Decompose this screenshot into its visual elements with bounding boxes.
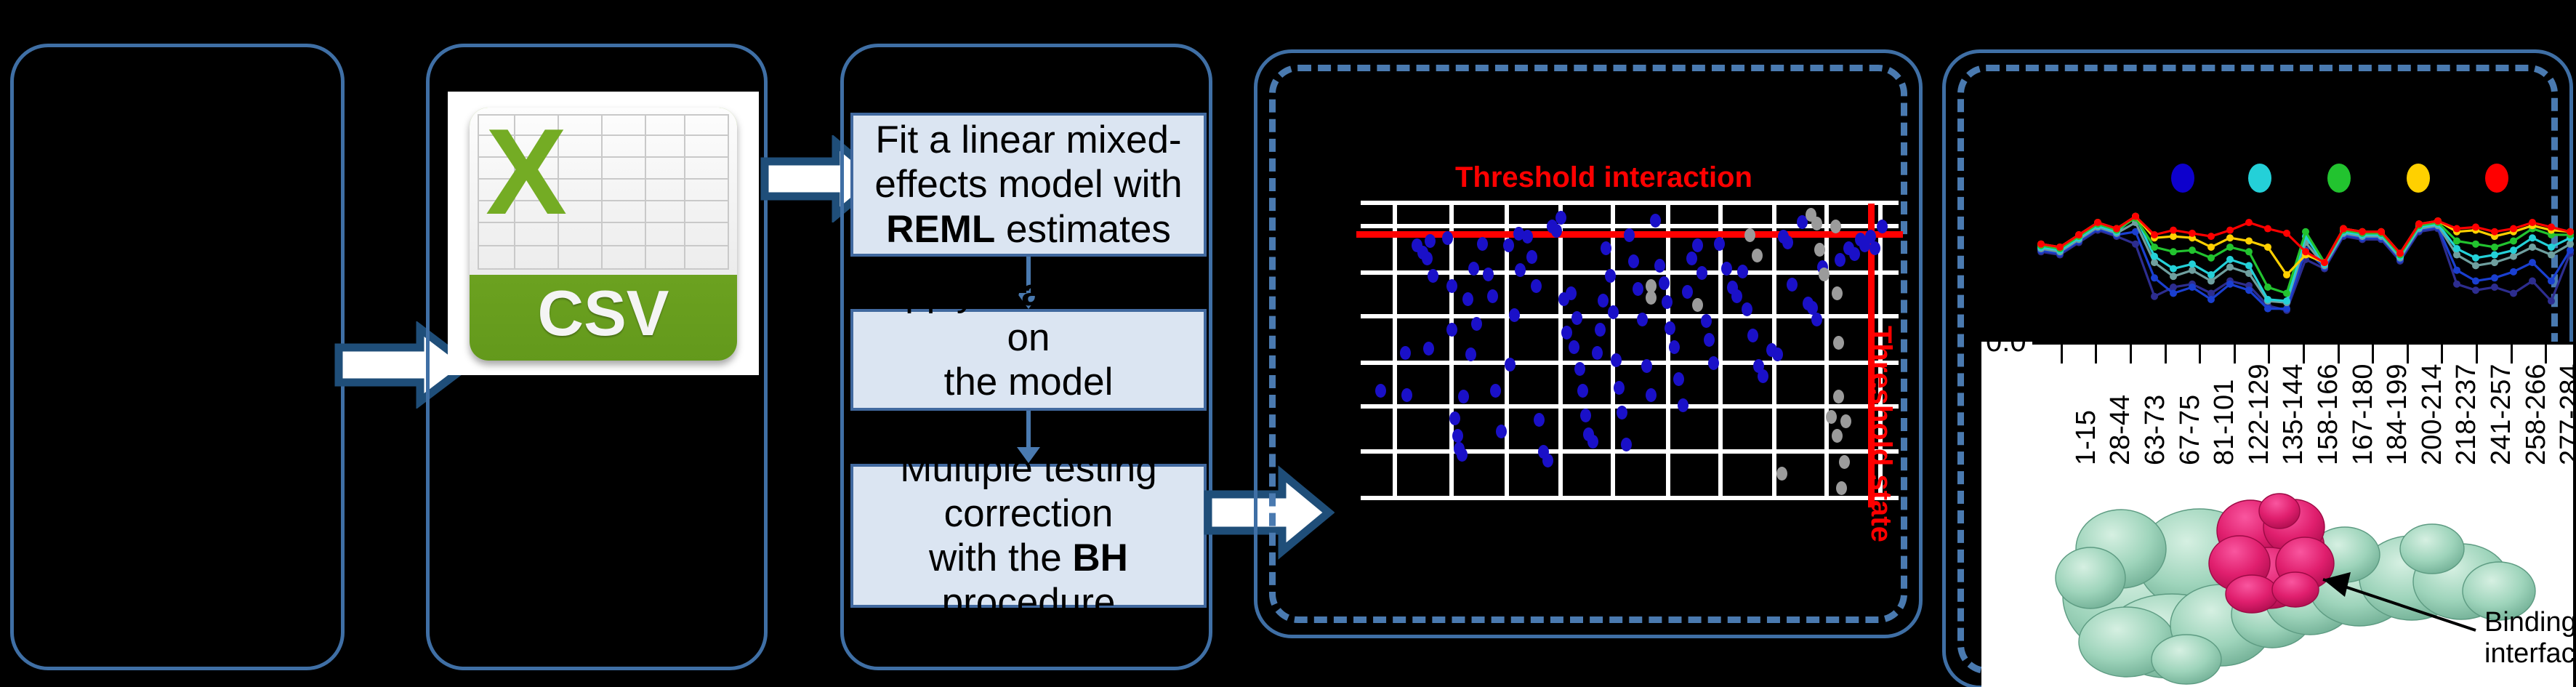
step-bh-line3post: procedure: [942, 581, 1116, 624]
peptide-series-marker: [2226, 256, 2234, 263]
scatter-point: [1659, 276, 1670, 290]
scatter-point-ns: [1819, 268, 1830, 281]
scatter-point: [1704, 333, 1715, 347]
step-wald-bold: Wald tests: [986, 271, 1178, 314]
scatter-point: [1617, 406, 1627, 419]
scatter-point: [1458, 390, 1469, 403]
peptide-series-marker: [2207, 233, 2215, 240]
scatter-point: [1673, 372, 1684, 386]
peptide-series-marker: [2510, 237, 2517, 244]
scatter-point: [1490, 384, 1501, 398]
peptide-series-marker: [2170, 289, 2177, 297]
scatter-point: [1686, 252, 1697, 265]
csv-file-icon: X CSV: [470, 108, 737, 361]
peptide-axis-tick-label: 81-101: [2209, 379, 2240, 465]
step-bh-line1: Multiple testing: [900, 447, 1157, 490]
scatter-point: [1503, 238, 1514, 252]
peptide-series-marker: [2510, 289, 2517, 297]
scatter-point: [1505, 358, 1516, 371]
peptide-series-marker: [2283, 271, 2290, 278]
scatter-point: [1621, 438, 1632, 451]
scatter-point: [1592, 346, 1603, 360]
scatter-point: [1772, 347, 1783, 361]
scatter-point: [1787, 278, 1798, 292]
scatter-point-ns: [1811, 217, 1822, 230]
legend-dot-series-2: [2248, 164, 2271, 193]
legend-dot-series-3: [2327, 164, 2351, 193]
csv-label: CSV: [470, 276, 737, 350]
scatter-point: [1471, 317, 1482, 331]
scatter-point: [1614, 381, 1625, 395]
peptide-series-marker: [2472, 223, 2479, 230]
peptide-series-marker: [2529, 234, 2536, 241]
peptide-series-marker: [2151, 231, 2158, 238]
peptide-axis-tick: [2511, 345, 2513, 363]
step-wald-pre: Apply: [880, 271, 986, 314]
peptide-axis-tick: [2303, 345, 2305, 363]
scatter-point: [1641, 359, 1652, 373]
scatter-point: [1580, 409, 1591, 422]
peptide-series-marker: [2283, 230, 2290, 237]
binding-interface-line2: interface: [2484, 638, 2573, 669]
peptide-axis-tick-label: 200-214: [2417, 364, 2448, 465]
peptide-series-marker: [2283, 289, 2290, 297]
scatter-point: [1628, 254, 1639, 268]
peptide-axis-tick-label: 122-129: [2244, 364, 2275, 465]
step-reml-box[interactable]: Fit a linear mixed- effects model with R…: [850, 113, 1207, 257]
peptide-series-marker: [2491, 274, 2498, 281]
scatter-point: [1747, 329, 1758, 342]
scatter-point: [1449, 411, 1460, 425]
peptide-series-marker: [2529, 259, 2536, 266]
scatter-point: [1551, 224, 1562, 238]
scatter-point: [1561, 326, 1572, 340]
step-reml-line2: effects model with: [874, 163, 1182, 206]
peptide-series-marker: [2207, 296, 2215, 303]
scatter-point: [1483, 268, 1494, 281]
peptide-axis-tick-label: 28-44: [2105, 395, 2136, 465]
scatter-point: [1555, 211, 1566, 225]
peptide-series-marker: [2529, 219, 2536, 226]
peptide-series-marker: [2453, 281, 2460, 288]
scatter-point: [1468, 262, 1479, 276]
scatter-point-ns: [1646, 291, 1657, 305]
scatter-point: [1515, 263, 1526, 277]
peptide-axis-tick-label: 277-284: [2555, 364, 2573, 465]
scatter-point: [1721, 262, 1732, 276]
peptide-axis-tick-label: 241-257: [2486, 364, 2517, 465]
peptide-series-marker: [2321, 259, 2328, 266]
peptide-series-marker: [2491, 252, 2498, 259]
scatter-point: [1637, 313, 1648, 326]
peptide-series-marker: [2245, 237, 2253, 244]
peptide-series-marker: [2207, 254, 2215, 262]
peptide-series-marker: [2226, 281, 2234, 288]
scatter-point: [1877, 220, 1888, 233]
scatter-point: [1428, 269, 1438, 283]
scatter-point: [1714, 237, 1725, 251]
peptide-axis-tick: [2338, 345, 2340, 363]
step-reml-line3rest: estimates: [995, 208, 1171, 251]
scatter-point: [1423, 342, 1434, 355]
scatter-gridline-h: [1361, 361, 1899, 365]
scatter-point: [1708, 356, 1719, 370]
peptide-series-marker: [2264, 296, 2271, 303]
peptide-axis-tick: [2268, 345, 2270, 363]
scatter-point: [1569, 340, 1579, 354]
scatter-point: [1662, 295, 1673, 309]
peptide-series-marker: [2189, 260, 2196, 268]
peptide-series-marker: [2207, 271, 2215, 278]
scatter-point: [1477, 237, 1488, 251]
peptide-series-marker: [2151, 244, 2158, 251]
scatter-point-ns: [1826, 410, 1837, 424]
scatter-gridline-v: [1449, 201, 1454, 500]
scatter-point: [1598, 294, 1609, 308]
peptide-series-marker: [2396, 249, 2404, 257]
scatter-point: [1401, 388, 1412, 402]
peptide-series-marker: [2453, 225, 2460, 233]
scatter-point: [1577, 384, 1588, 398]
scatter-point: [1811, 313, 1822, 326]
peptide-series-marker: [2075, 231, 2082, 238]
step-reml-line1: Fit a linear mixed-: [875, 118, 1181, 161]
peptide-series-marker: [2226, 234, 2234, 241]
peptide-series-marker: [2472, 262, 2479, 269]
scatter-point: [1682, 285, 1693, 299]
scatter-point: [1692, 238, 1703, 252]
scatter-point: [1400, 346, 1411, 360]
scatter-point: [1526, 250, 1537, 264]
scatter-point: [1646, 388, 1657, 402]
scatter-point: [1457, 448, 1468, 462]
scatter-point: [1849, 247, 1860, 261]
peptide-series-marker: [2151, 274, 2158, 281]
scatter-point: [1375, 384, 1386, 398]
protein-structure-card: Binding interface: [1981, 469, 2573, 687]
scatter-gridline-h: [1361, 201, 1899, 205]
peptide-series-marker: [2548, 252, 2555, 259]
scatter-point: [1487, 289, 1498, 303]
peptide-axis-tick: [2061, 345, 2063, 363]
peptide-axis-tick: [2095, 345, 2097, 363]
peptide-series-marker: [2245, 248, 2253, 255]
scatter-point-ns: [1840, 414, 1851, 428]
peptide-series-marker: [2359, 228, 2366, 236]
peptide-series-marker: [2132, 241, 2139, 248]
legend-dot-series-5: [2485, 164, 2508, 193]
scatter-point: [1534, 413, 1545, 427]
scatter-point-ns: [1830, 220, 1841, 233]
scatter-point: [1742, 302, 1752, 316]
peptide-series-marker: [2094, 219, 2101, 226]
scatter-gridline-v: [1558, 201, 1563, 500]
scatter-point: [1605, 269, 1616, 283]
peptide-series-marker: [2245, 286, 2253, 294]
peptide-series-marker: [2264, 225, 2271, 233]
scatter-point: [1701, 314, 1712, 328]
peptide-axis-tick: [2165, 345, 2167, 363]
peptide-axis-tick-label: 167-180: [2348, 364, 2379, 465]
legend-dot-series-1: [2171, 164, 2194, 193]
scatter-point: [1758, 369, 1768, 383]
scatter-point-ns: [1814, 243, 1825, 257]
peptide-series-marker: [2264, 284, 2271, 291]
peptide-series-marker: [2472, 278, 2479, 285]
scatter-point-ns: [1744, 228, 1755, 242]
peptide-series-marker: [2226, 263, 2234, 270]
scatter-point: [1737, 265, 1748, 278]
step-reml-bold: REML: [886, 208, 995, 251]
peptide-series-marker: [2548, 223, 2555, 230]
scatter-point: [1446, 279, 1457, 293]
peptide-series-marker: [2245, 262, 2253, 269]
scatter-point-ns: [1752, 249, 1763, 262]
peptide-series-marker: [2415, 220, 2423, 228]
panel-input: [10, 44, 345, 670]
binding-interface-annotation: Binding interface: [2484, 607, 2573, 669]
scatter-point: [1509, 308, 1520, 322]
peptide-series-marker: [2529, 278, 2536, 285]
legend-dot-series-4: [2407, 164, 2430, 193]
peptide-series-marker: [2189, 284, 2196, 291]
peptide-series-marker: [2132, 213, 2139, 220]
peptide-series-marker: [2548, 297, 2555, 305]
scatter-point: [1422, 252, 1433, 265]
threshold-state-label: Threshold state: [1864, 326, 1897, 542]
peptide-series-marker: [2491, 284, 2498, 291]
step-bh-box[interactable]: Multiple testing correction with the BH …: [850, 464, 1207, 608]
peptide-series-marker: [2151, 253, 2158, 260]
scatter-point-ns: [1776, 467, 1787, 481]
peptide-axis-tick: [2545, 345, 2547, 363]
peptide-series-marker: [2340, 225, 2347, 233]
threshold-interaction-label: Threshold interaction: [1455, 161, 1752, 194]
scatter-gridline-v: [1611, 201, 1615, 500]
peptide-axis-tick: [2476, 345, 2478, 363]
scatter-point: [1442, 231, 1453, 245]
step-bh-bold: BH: [1072, 537, 1128, 579]
peptide-axis-tick: [2130, 345, 2132, 363]
csv-x-letter: X: [486, 111, 567, 233]
scatter-point: [1522, 230, 1533, 244]
peptide-axis-tick-label: 218-237: [2451, 364, 2482, 465]
peptide-series-marker: [2113, 225, 2120, 233]
scatter-point-ns: [1839, 455, 1850, 469]
peptide-series-marker: [2529, 244, 2536, 251]
csv-icon-card: X CSV: [448, 92, 759, 375]
peptide-series-marker: [2264, 305, 2271, 313]
scatter-point: [1678, 398, 1689, 412]
peptide-series-marker: [2226, 244, 2234, 251]
scatter-point: [1782, 236, 1793, 249]
peptide-series-marker: [2434, 217, 2442, 225]
scatter-point-ns: [1833, 390, 1844, 403]
peptide-axis-tick: [2199, 345, 2201, 363]
peptide-series-marker: [2151, 293, 2158, 300]
scatter-point: [1601, 241, 1611, 255]
scatter-point-ns: [1836, 481, 1847, 495]
peptide-series-marker: [2472, 286, 2479, 294]
peptide-y-tick-label: 0.0: [1986, 326, 2026, 358]
peptide-axis-tick-label: 1-15: [2071, 410, 2102, 465]
scatter-point: [1665, 321, 1675, 335]
peptide-series-marker: [2378, 228, 2385, 236]
peptide-axis-tick-label: 258-266: [2521, 364, 2552, 465]
step-bh-line2: correction: [944, 492, 1114, 535]
peptide-series-marker: [2170, 265, 2177, 273]
peptide-line-chart: [2035, 200, 2576, 345]
peptide-series-marker: [2170, 248, 2177, 255]
peptide-series-marker: [2226, 227, 2234, 234]
peptide-series-marker: [2491, 228, 2498, 236]
peptide-axis-tick-label: 158-166: [2313, 364, 2344, 465]
scatter-point: [1571, 311, 1582, 325]
peptide-axis-tick-label: 184-199: [2382, 364, 2413, 465]
scatter-point-ns: [1692, 298, 1703, 312]
scatter-point: [1608, 305, 1619, 319]
scatter-gridline-v: [1824, 201, 1829, 500]
peptide-series-marker: [2283, 297, 2290, 305]
scatter-plot: [1361, 198, 1899, 510]
scatter-point: [1835, 253, 1846, 267]
scatter-point: [1587, 435, 1598, 449]
peptide-series-marker: [2170, 273, 2177, 280]
peptide-series-marker: [2510, 268, 2517, 276]
scatter-point: [1624, 228, 1635, 242]
scatter-point: [1462, 292, 1473, 306]
peptide-series-marker: [2510, 246, 2517, 254]
peptide-series-marker: [2302, 248, 2309, 255]
scatter-point: [1654, 259, 1665, 273]
scatter-point: [1446, 323, 1457, 337]
peptide-series-marker: [2170, 227, 2177, 234]
scatter-point: [1574, 362, 1585, 376]
peptide-series-marker: [2548, 278, 2555, 285]
scatter-point: [1566, 286, 1577, 300]
scatter-point: [1633, 282, 1643, 296]
peptide-series-marker: [2491, 244, 2498, 251]
connector-wald-to-bh: [1026, 411, 1031, 451]
peptide-axis-tick: [2441, 345, 2443, 363]
peptide-series-marker: [2472, 254, 2479, 262]
flow-diagram-canvas: X CSV Fit a linear mixed- effects model …: [0, 0, 2576, 687]
peptide-series-marker: [2453, 267, 2460, 274]
peptide-series-marker: [2037, 241, 2045, 248]
peptide-series-marker: [2189, 230, 2196, 237]
scatter-point: [1696, 266, 1707, 280]
peptide-axis-tick-label: 135-144: [2278, 364, 2309, 465]
peptide-series-marker: [2207, 244, 2215, 251]
scatter-point: [1531, 279, 1542, 293]
step-wald-box[interactable]: Apply Wald tests on the model parameters: [850, 309, 1207, 411]
scatter-point-ns: [1833, 336, 1844, 350]
peptide-axis-tick: [2234, 345, 2236, 363]
step-bh-line3pre: with the: [929, 537, 1072, 579]
binding-interface-line1: Binding: [2484, 607, 2573, 638]
peptide-axis-tick-label: 67-75: [2175, 395, 2206, 465]
peptide-series-marker: [2453, 237, 2460, 244]
peptide-series-marker: [2189, 246, 2196, 254]
scatter-point: [1869, 241, 1880, 255]
peptide-axis-tick: [2407, 345, 2409, 363]
peptide-series-marker: [2056, 244, 2064, 251]
scatter-point: [1650, 214, 1661, 228]
peptide-series-marker: [2567, 228, 2574, 236]
scatter-point-ns: [1832, 286, 1843, 300]
peptide-series-marker: [2491, 259, 2498, 266]
step-wald-post: on: [1007, 316, 1050, 359]
scatter-gridline-v: [1393, 201, 1397, 500]
peptide-series-marker: [2510, 225, 2517, 233]
peptide-axis-tick-label: 63-73: [2140, 395, 2171, 465]
scatter-point: [1731, 289, 1742, 303]
scatter-point: [1452, 429, 1463, 443]
peptide-series-marker: [2472, 241, 2479, 248]
scatter-point: [1496, 425, 1507, 438]
peptide-series-marker: [2245, 219, 2253, 226]
scatter-gridline-h: [1361, 496, 1899, 500]
scatter-point-ns: [1832, 429, 1843, 443]
peptide-series-marker: [2548, 244, 2555, 251]
peptide-series-marker: [2453, 245, 2460, 252]
scatter-point: [1611, 353, 1622, 367]
scatter-gridline-h: [1361, 404, 1899, 409]
scatter-point: [1542, 454, 1553, 467]
peptide-axis-tick: [2372, 345, 2374, 363]
scatter-point: [1595, 323, 1606, 337]
peptide-series-marker: [2264, 244, 2271, 251]
scatter-point: [1425, 234, 1436, 248]
scatter-point: [1465, 347, 1476, 361]
peptide-series-marker: [2302, 228, 2309, 236]
scatter-point: [1669, 340, 1680, 354]
